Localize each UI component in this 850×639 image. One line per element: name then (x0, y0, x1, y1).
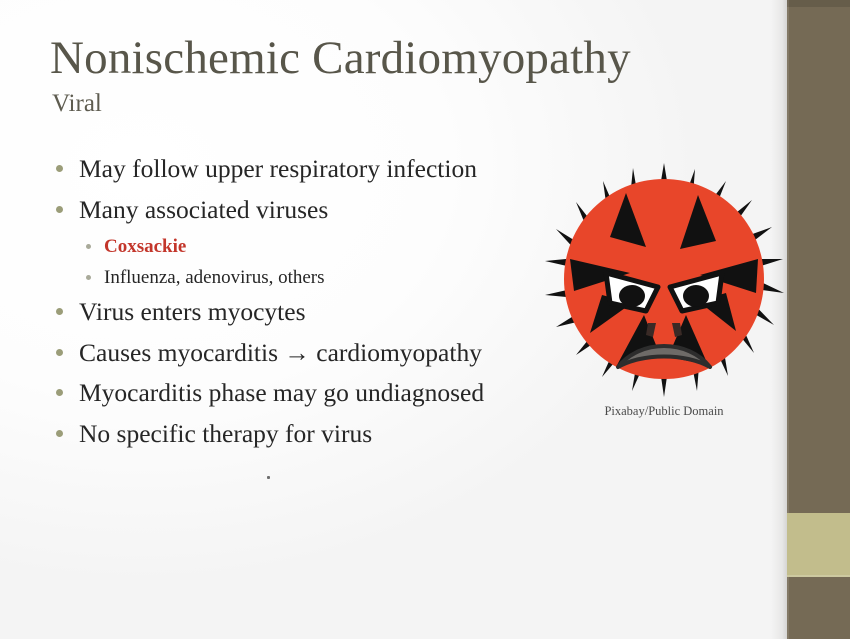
bullet-text: Causes myocarditis → cardiomyopathy (79, 338, 576, 366)
list-item-sub: Influenza, adenovirus, others (86, 266, 576, 287)
bullet-dot-icon (86, 275, 91, 280)
list-item: Many associated viruses (56, 195, 576, 223)
bullet-dot-icon (86, 244, 91, 249)
slide-root: Nonischemic Cardiomyopathy Viral May fol… (0, 0, 850, 639)
bullet-text: No specific therapy for virus (79, 419, 576, 447)
decorative-sidebar (787, 0, 850, 639)
bullet-dot-icon (56, 308, 63, 315)
bullet-dot-icon (56, 206, 63, 213)
bullet-list: May follow upper respiratory infection M… (56, 154, 576, 459)
page-title: Nonischemic Cardiomyopathy (50, 34, 750, 84)
list-item: Causes myocarditis → cardiomyopathy (56, 338, 576, 366)
list-item-sub: Coxsackie (86, 235, 576, 256)
list-item: May follow upper respiratory infection (56, 154, 576, 182)
bullet-text: Many associated viruses (79, 195, 576, 223)
bullet-text: Virus enters myocytes (79, 297, 576, 325)
angry-virus-icon (540, 155, 788, 403)
bullet-text: May follow upper respiratory infection (79, 154, 576, 182)
bullet-dot-icon (56, 430, 63, 437)
bullet-text-highlight: Coxsackie (104, 235, 576, 256)
title-block: Nonischemic Cardiomyopathy Viral (50, 34, 750, 117)
virus-pupil-right (683, 285, 709, 307)
virus-figure: Pixabay/Public Domain (540, 155, 788, 435)
bullet-dot-icon (56, 349, 63, 356)
list-item: Virus enters myocytes (56, 297, 576, 325)
figure-caption: Pixabay/Public Domain (540, 404, 788, 419)
bullet-dot-icon (56, 165, 63, 172)
bullet-text: Influenza, adenovirus, others (104, 266, 576, 287)
list-item: No specific therapy for virus (56, 419, 576, 447)
list-item: Myocarditis phase may go undiagnosed (56, 378, 576, 406)
virus-pupil-left (619, 285, 645, 307)
sidebar-top-shade (787, 0, 850, 7)
stray-period-mark (267, 476, 270, 479)
bullet-dot-icon (56, 389, 63, 396)
sidebar-accent-block (787, 513, 850, 577)
page-subtitle: Viral (52, 90, 750, 118)
bullet-text: Myocarditis phase may go undiagnosed (79, 378, 576, 406)
